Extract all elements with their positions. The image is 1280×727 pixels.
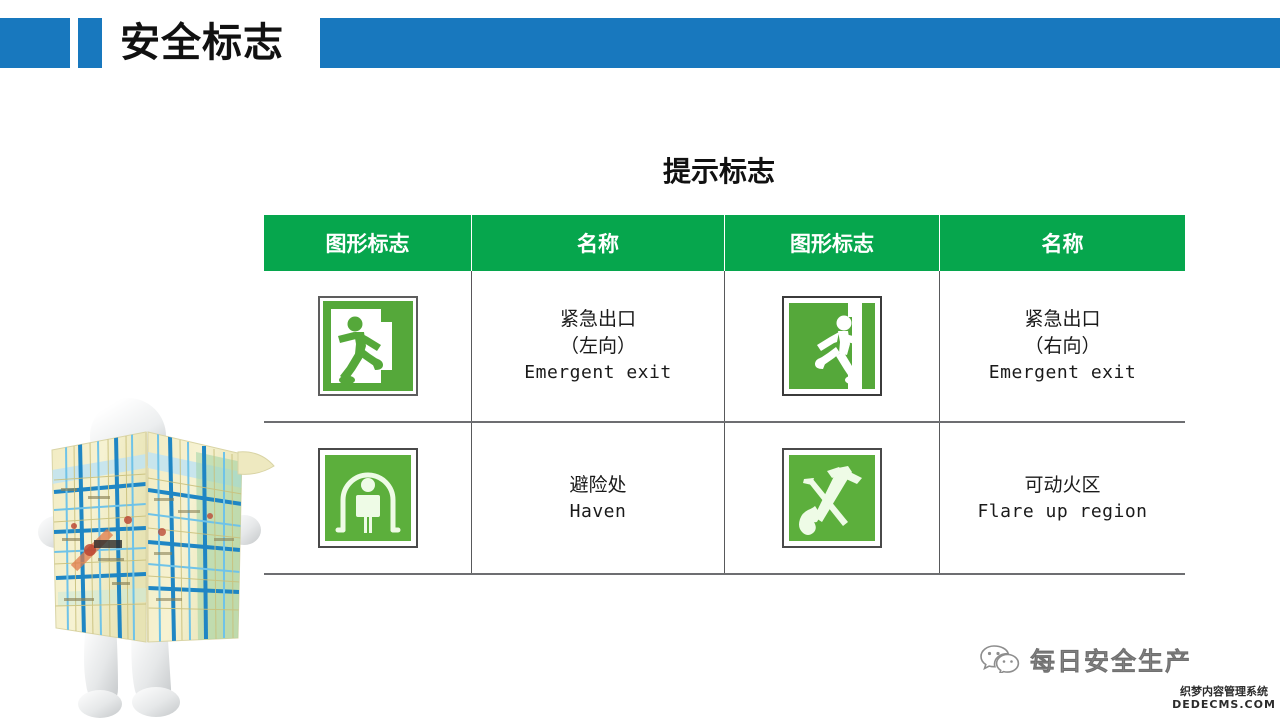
wechat-icon bbox=[980, 643, 1020, 678]
sign-name-en: Emergent exit bbox=[941, 360, 1184, 386]
sign-name-cn: 可动火区 bbox=[941, 472, 1184, 499]
column-header-name-1: 名称 bbox=[472, 215, 725, 271]
header-accent-bar-right bbox=[320, 18, 1280, 68]
sign-name-cell: 可动火区 Flare up region bbox=[940, 422, 1186, 574]
table-row: 避险处 Haven bbox=[264, 422, 1185, 574]
sign-name-cell: 避险处 Haven bbox=[472, 422, 725, 574]
safety-sign-table: 图形标志 名称 图形标志 名称 bbox=[264, 215, 1185, 575]
sign-name-cell: 紧急出口 （右向） Emergent exit bbox=[940, 271, 1186, 422]
sign-name-cn: 紧急出口 bbox=[941, 306, 1184, 333]
sign-name-cn2: （左向） bbox=[473, 333, 723, 360]
column-header-name-2: 名称 bbox=[940, 215, 1186, 271]
page-header: 安全标志 bbox=[0, 0, 1280, 88]
header-accent-tick bbox=[78, 18, 102, 68]
page-title: 安全标志 bbox=[120, 14, 310, 72]
3d-mannequin-holding-map bbox=[28, 392, 294, 722]
sign-name-cn: 紧急出口 bbox=[473, 306, 723, 333]
sign-cell bbox=[264, 271, 472, 422]
wechat-watermark: 每日安全生产 bbox=[980, 640, 1230, 680]
header-accent-bar-left bbox=[0, 18, 70, 68]
dedecms-watermark-cn: 织梦内容管理系统 bbox=[1168, 686, 1280, 698]
flare-up-region-sign bbox=[782, 448, 882, 548]
sign-name-en: Emergent exit bbox=[473, 360, 723, 386]
haven-shelter-sign bbox=[318, 448, 418, 548]
emergency-exit-right-sign bbox=[782, 296, 882, 396]
sign-cell bbox=[725, 422, 940, 574]
emergency-exit-left-sign bbox=[318, 296, 418, 396]
table-header-row: 图形标志 名称 图形标志 名称 bbox=[264, 215, 1185, 271]
sign-name-cn2: （右向） bbox=[941, 333, 1184, 360]
table-row: 紧急出口 （左向） Emergent exit bbox=[264, 271, 1185, 422]
wechat-account-name: 每日安全生产 bbox=[1030, 642, 1192, 678]
column-header-graphic-2: 图形标志 bbox=[725, 215, 940, 271]
dedecms-watermark-en: DEDECMS.COM bbox=[1168, 698, 1280, 711]
sign-name-cn: 避险处 bbox=[473, 472, 723, 499]
dedecms-watermark: 织梦内容管理系统 DEDECMS.COM bbox=[1168, 686, 1280, 711]
sign-cell bbox=[725, 271, 940, 422]
sign-name-en: Flare up region bbox=[941, 499, 1184, 525]
sign-cell bbox=[264, 422, 472, 574]
column-header-graphic-1: 图形标志 bbox=[264, 215, 472, 271]
sign-name-cell: 紧急出口 （左向） Emergent exit bbox=[472, 271, 725, 422]
section-title: 提示标志 bbox=[264, 150, 1174, 190]
sign-name-en: Haven bbox=[473, 499, 723, 525]
